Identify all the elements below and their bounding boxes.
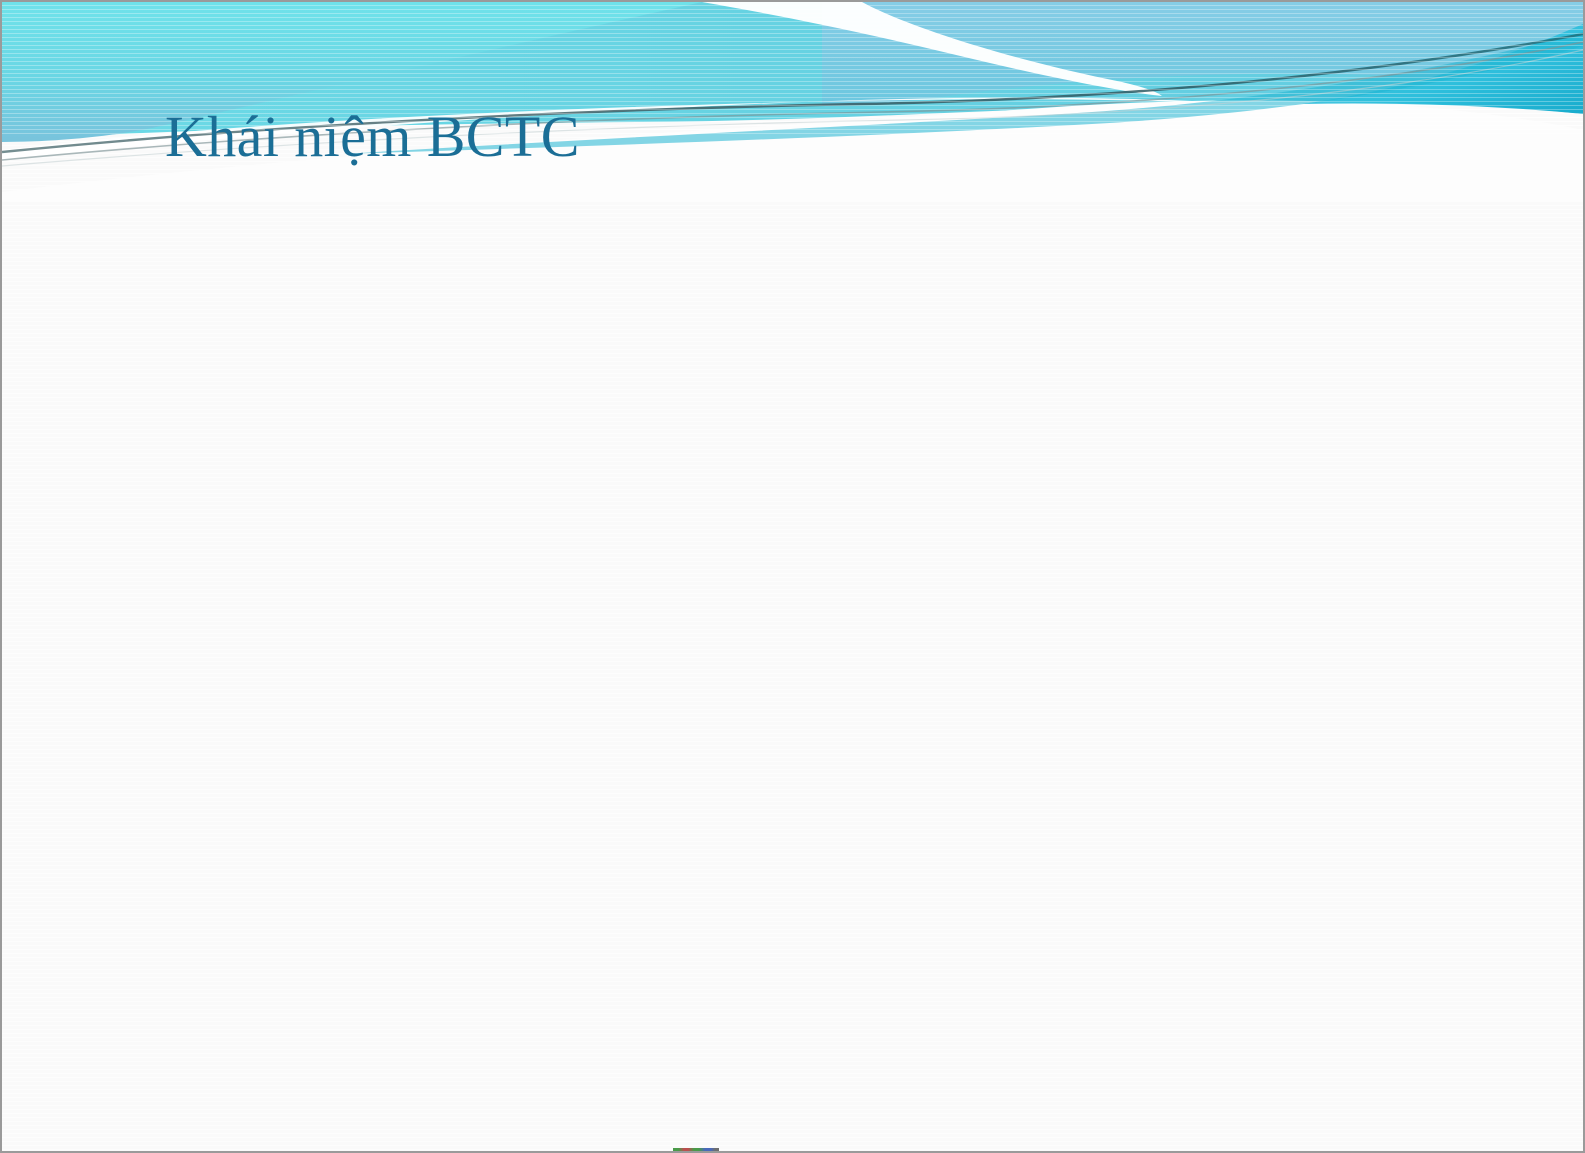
page-title: Khái niệm BCTC [165, 106, 1345, 169]
title-placeholder[interactable]: Khái niệm BCTC [165, 106, 1345, 169]
content-placeholder[interactable] [112, 212, 1473, 1081]
bottom-edge-artifact [673, 1148, 719, 1151]
presentation-slide: Khái niệm BCTC [0, 0, 1585, 1153]
